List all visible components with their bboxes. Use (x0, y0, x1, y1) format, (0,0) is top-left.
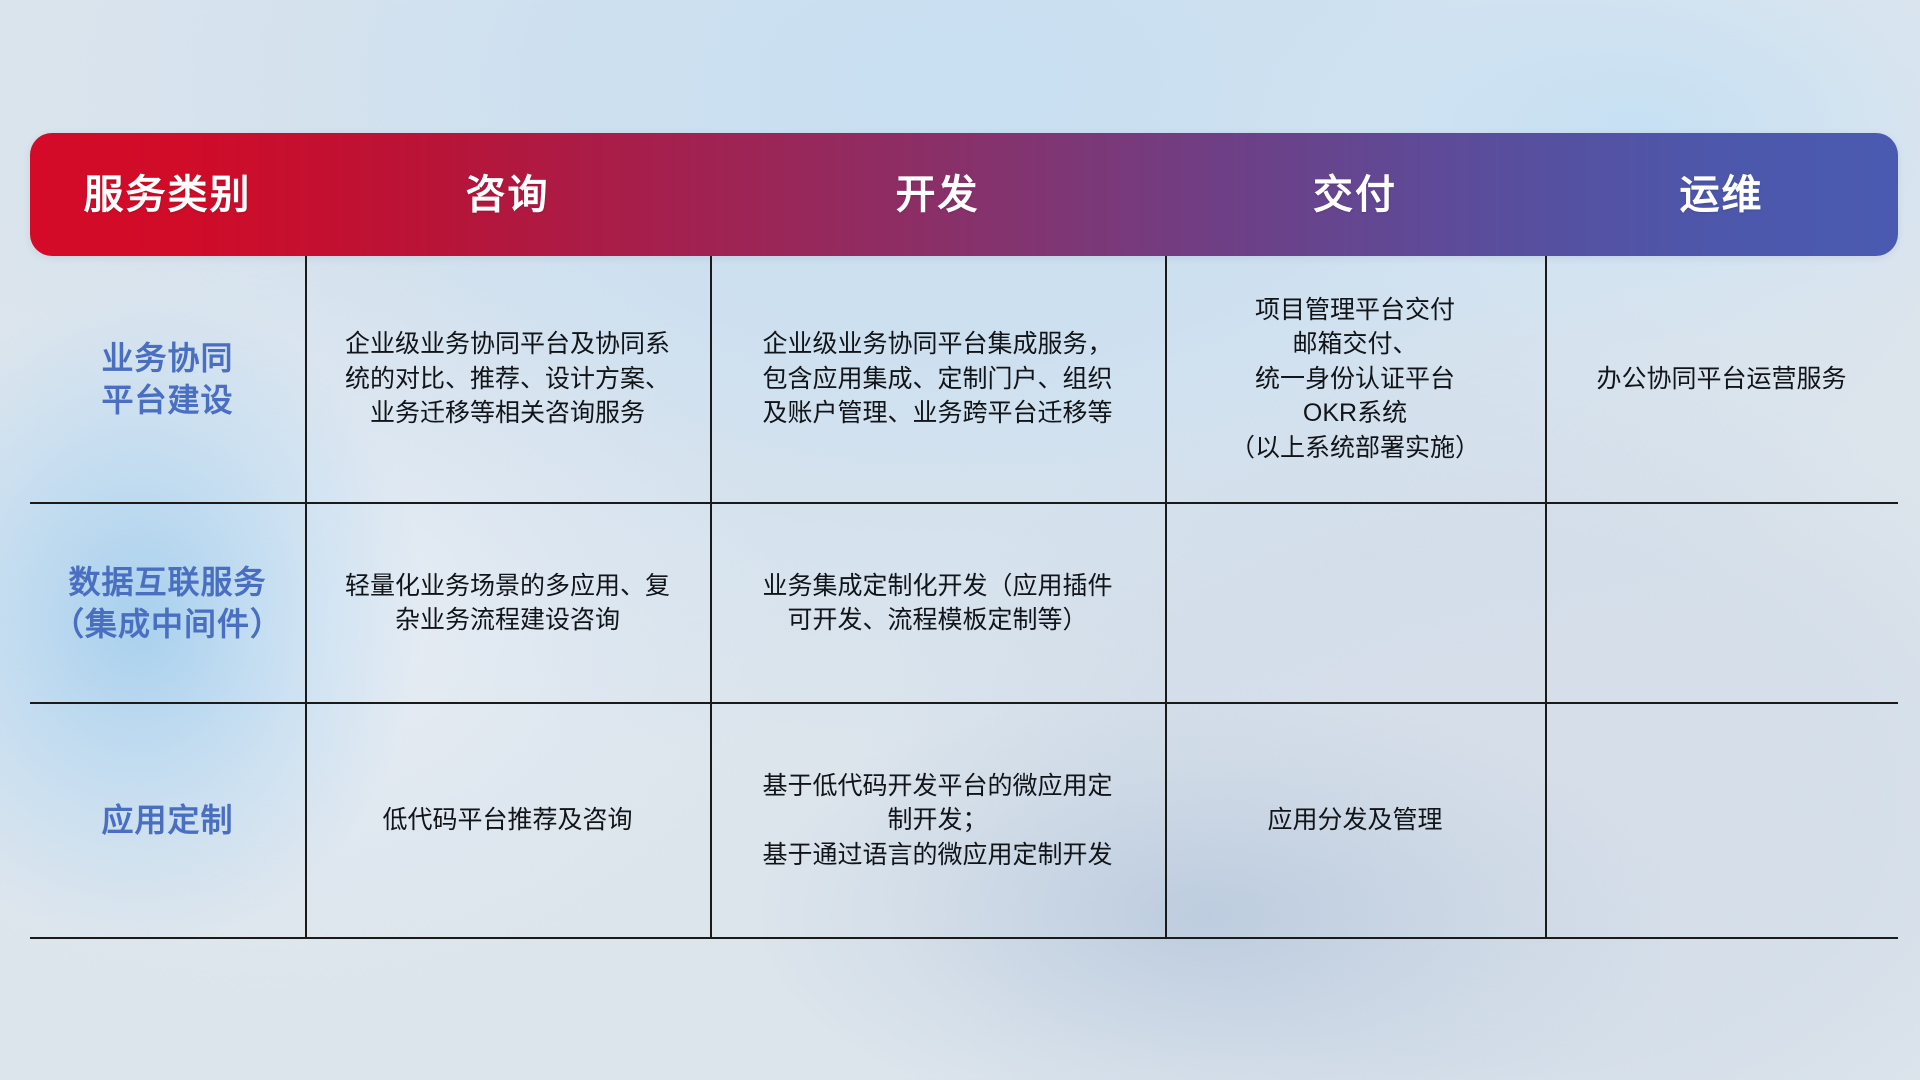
service-category-table: 服务类别 咨询 开发 交付 运维 业务协同 平台建设 企业级业务协同平台及协同系… (30, 133, 1898, 939)
cell-operations: 办公协同平台运营服务 (1545, 256, 1898, 502)
cell-category: 数据互联服务 （集成中间件） (30, 504, 305, 702)
table-row: 应用定制 低代码平台推荐及咨询 基于低代码开发平台的微应用定 制开发； 基于通过… (30, 704, 1898, 939)
header-development: 开发 (710, 133, 1165, 256)
cell-development: 业务集成定制化开发（应用插件 可开发、流程模板定制等） (710, 504, 1165, 702)
cell-delivery (1165, 504, 1545, 702)
cell-category: 业务协同 平台建设 (30, 256, 305, 502)
cell-consulting: 轻量化业务场景的多应用、复 杂业务流程建设咨询 (305, 504, 710, 702)
cell-operations (1545, 504, 1898, 702)
table-body: 业务协同 平台建设 企业级业务协同平台及协同系 统的对比、推荐、设计方案、 业务… (30, 256, 1898, 939)
cell-development: 基于低代码开发平台的微应用定 制开发； 基于通过语言的微应用定制开发 (710, 704, 1165, 937)
table-header-row: 服务类别 咨询 开发 交付 运维 (30, 133, 1898, 256)
cell-consulting: 低代码平台推荐及咨询 (305, 704, 710, 937)
table-row: 业务协同 平台建设 企业级业务协同平台及协同系 统的对比、推荐、设计方案、 业务… (30, 256, 1898, 504)
cell-delivery: 项目管理平台交付 邮箱交付、 统一身份认证平台 OKR系统 （以上系统部署实施） (1165, 256, 1545, 502)
header-operations: 运维 (1545, 133, 1898, 256)
header-service-category: 服务类别 (30, 133, 305, 256)
cell-operations (1545, 704, 1898, 937)
cell-delivery: 应用分发及管理 (1165, 704, 1545, 937)
header-delivery: 交付 (1165, 133, 1545, 256)
table-row: 数据互联服务 （集成中间件） 轻量化业务场景的多应用、复 杂业务流程建设咨询 业… (30, 504, 1898, 704)
cell-development: 企业级业务协同平台集成服务， 包含应用集成、定制门户、组织 及账户管理、业务跨平… (710, 256, 1165, 502)
cell-category: 应用定制 (30, 704, 305, 937)
header-consulting: 咨询 (305, 133, 710, 256)
cell-consulting: 企业级业务协同平台及协同系 统的对比、推荐、设计方案、 业务迁移等相关咨询服务 (305, 256, 710, 502)
